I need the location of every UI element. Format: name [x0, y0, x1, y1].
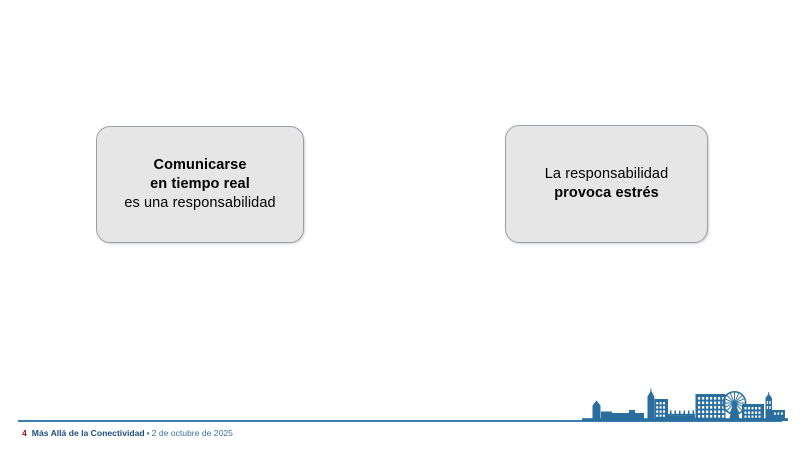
- skyline-shapes: [582, 389, 788, 422]
- concept-box-right-line-1: La responsabilidad: [545, 165, 669, 184]
- concept-box-right[interactable]: La responsabilidad provoca estrés: [505, 125, 708, 243]
- footer-page-number: 4: [22, 428, 27, 438]
- concept-box-left-line-1: Comunicarse: [154, 156, 247, 175]
- concept-box-left[interactable]: Comunicarse en tiempo real es una respon…: [96, 126, 304, 243]
- footer-date: 2 de octubre de 2025: [152, 428, 233, 438]
- city-skyline-silhouette: [582, 388, 788, 421]
- concept-box-left-line-3: es una responsabilidad: [124, 194, 275, 213]
- concept-box-right-line-2: provoca estrés: [554, 184, 659, 203]
- footer-presentation-title: Más Allá de la Conectividad: [32, 428, 145, 438]
- footer-separator-bullet: •: [147, 428, 150, 438]
- slide-canvas: Comunicarse en tiempo real es una respon…: [0, 0, 800, 450]
- concept-box-left-line-2: en tiempo real: [150, 175, 250, 194]
- footer: 4Más Allá de la Conectividad•2 de octubr…: [22, 429, 233, 438]
